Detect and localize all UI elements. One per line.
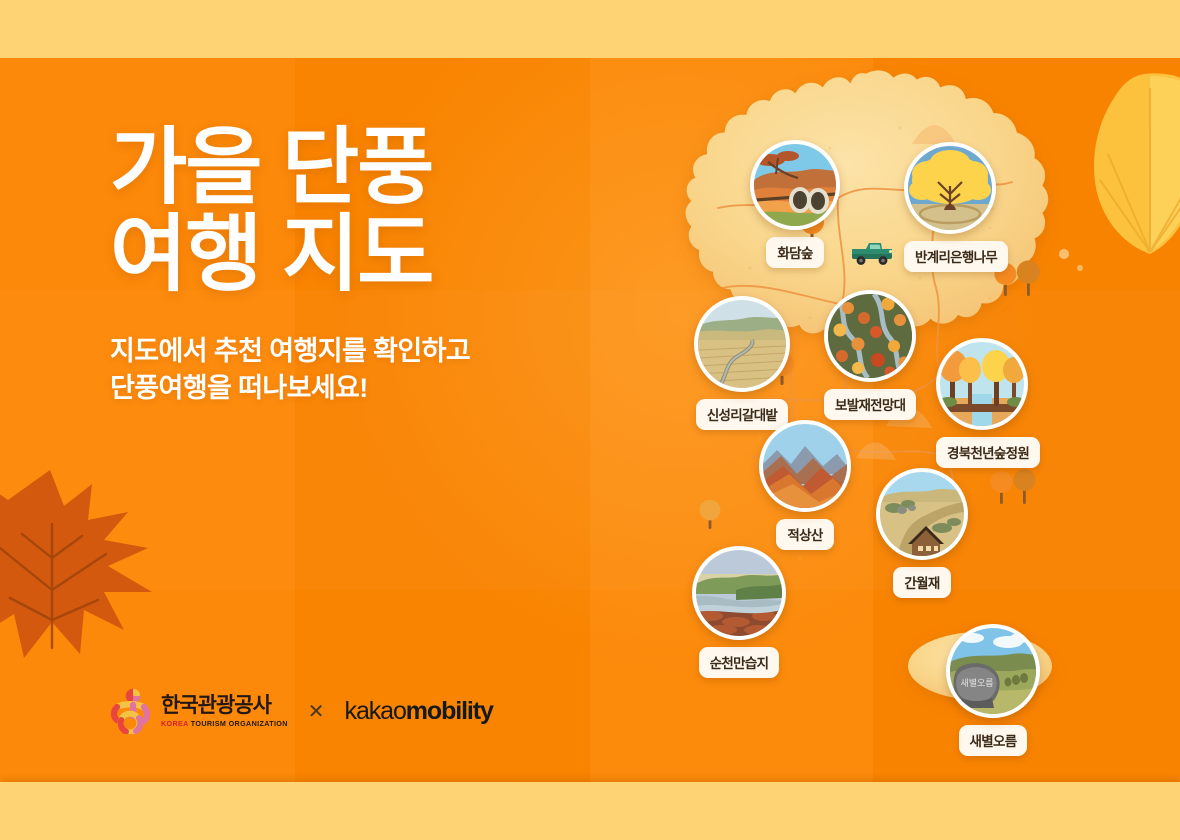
kakao-word: kakao bbox=[345, 697, 406, 725]
decor-tree-icon bbox=[986, 466, 1040, 511]
pin-thumbnail bbox=[936, 338, 1028, 430]
pin-label: 화담숲 bbox=[766, 237, 823, 268]
kto-english-name: KOREA TOURISM ORGANIZATION bbox=[161, 720, 288, 727]
pin-label: 새별오름 bbox=[959, 725, 1028, 756]
pin-thumbnail bbox=[750, 140, 840, 230]
pin-thumbnail bbox=[694, 296, 790, 392]
pin-thumbnail bbox=[692, 546, 786, 640]
map-pin-jeoksangsan[interactable]: 적상산 bbox=[759, 420, 851, 550]
map-pin-ganwoljae[interactable]: 간월재 bbox=[876, 468, 968, 598]
mobility-word: mobility bbox=[406, 697, 493, 725]
kto-logo-mark bbox=[108, 688, 152, 734]
pin-thumbnail bbox=[759, 420, 851, 512]
logo-separator-x-icon: ✕ bbox=[304, 699, 329, 724]
kto-english-rest: TOURISM ORGANIZATION bbox=[188, 719, 287, 728]
map-pin-suncheonman[interactable]: 순천만습지 bbox=[692, 546, 786, 678]
page-title: 가을 단풍 여행 지도 bbox=[110, 124, 470, 299]
map-pin-bangyeri[interactable]: 반계리은행나무 bbox=[904, 142, 1008, 272]
pin-label: 간월재 bbox=[893, 567, 950, 598]
bottom-band bbox=[0, 782, 1180, 840]
pin-label: 보발재전망대 bbox=[824, 389, 916, 420]
hero-copy: 가을 단풍 여행 지도 지도에서 추천 여행지를 확인하고 단풍여행을 떠나보세… bbox=[110, 124, 470, 407]
rock-engraved-label: 새별오름 bbox=[960, 678, 993, 688]
kakaomobility-logo[interactable]: kakaomobility bbox=[345, 697, 493, 726]
map-pin-saebyeoloreum[interactable]: 새별오름 새별오름 bbox=[946, 624, 1040, 756]
logo-row: 한국관광공사 KOREA TOURISM ORGANIZATION ✕ kaka… bbox=[108, 688, 493, 734]
pin-label: 경북천년숲정원 bbox=[936, 437, 1040, 468]
pin-thumbnail bbox=[824, 290, 916, 382]
pin-label: 반계리은행나무 bbox=[904, 241, 1008, 272]
korea-travel-map[interactable]: 화담숲 bbox=[660, 58, 1120, 758]
kto-logo-text: 한국관광공사 KOREA TOURISM ORGANIZATION bbox=[161, 695, 288, 727]
pin-thumbnail: 새별오름 bbox=[946, 624, 1040, 718]
map-pin-gyeongbuk[interactable]: 경북천년숲정원 bbox=[936, 338, 1040, 468]
page-subtitle: 지도에서 추천 여행지를 확인하고 단풍여행을 떠나보세요! bbox=[110, 333, 470, 408]
pin-thumbnail bbox=[904, 142, 996, 234]
maple-leaf-decoration bbox=[0, 462, 162, 667]
kto-korean-name: 한국관광공사 bbox=[161, 695, 288, 716]
map-pin-bobaljae[interactable]: 보발재전망대 bbox=[824, 290, 916, 420]
map-pin-hwadamsup[interactable]: 화담숲 bbox=[750, 140, 840, 268]
korea-tourism-organization-logo[interactable]: 한국관광공사 KOREA TOURISM ORGANIZATION bbox=[108, 688, 288, 734]
map-pin-sinseongri[interactable]: 신성리갈대밭 bbox=[694, 296, 790, 430]
top-band bbox=[0, 0, 1180, 58]
poster-canvas: 가을 단풍 여행 지도 지도에서 추천 여행지를 확인하고 단풍여행을 떠나보세… bbox=[0, 0, 1180, 840]
kto-english-red: KOREA bbox=[161, 719, 188, 728]
pin-label: 순천만습지 bbox=[699, 647, 780, 678]
pickup-truck-icon bbox=[848, 238, 896, 275]
pin-thumbnail bbox=[876, 468, 968, 560]
decor-tree-icon bbox=[698, 498, 722, 535]
